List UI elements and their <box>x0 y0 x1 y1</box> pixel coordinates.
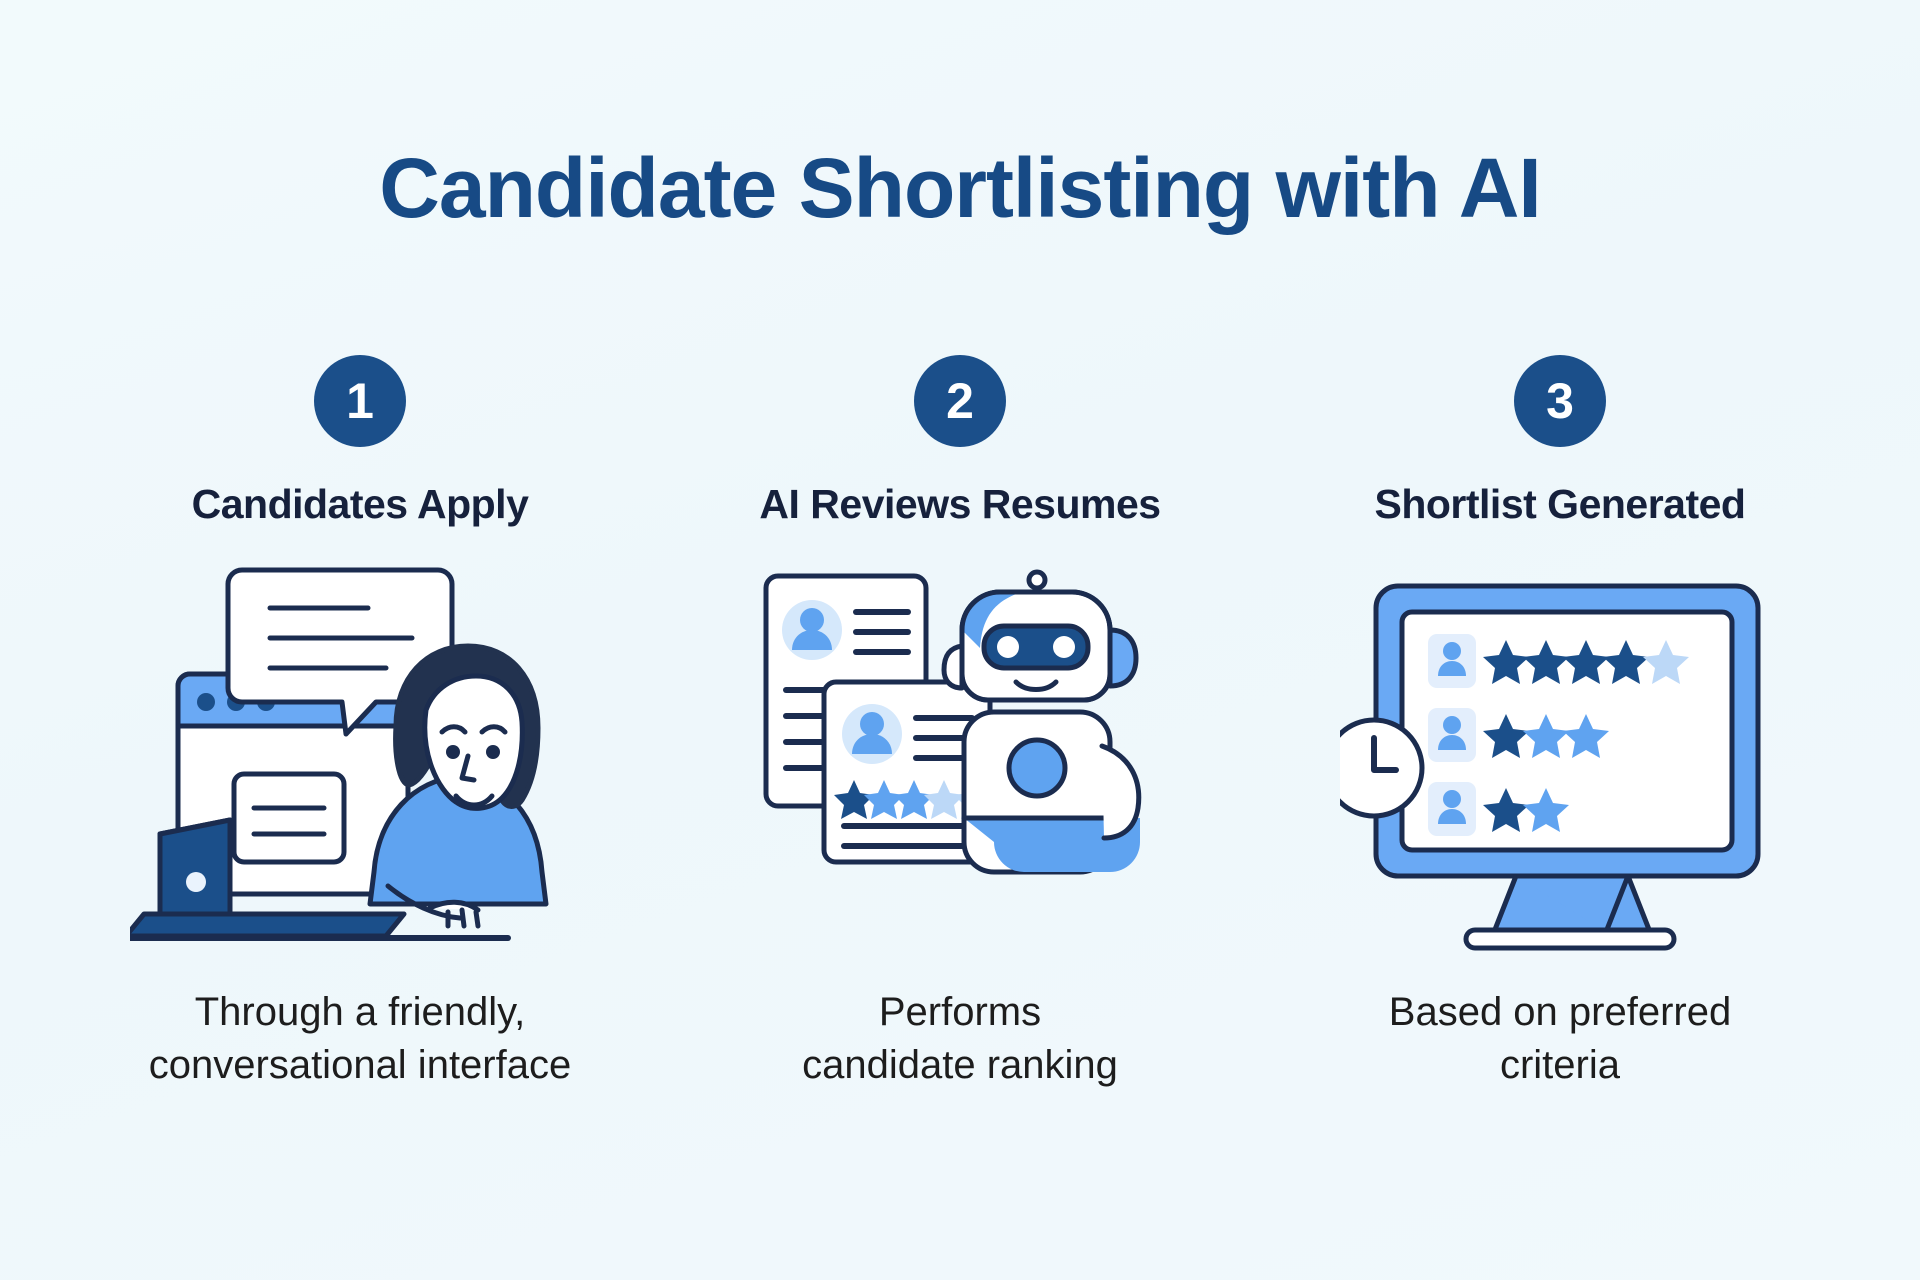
caption-line: Based on preferred criteria <box>1389 986 1731 1092</box>
step-column-2: 2 AI Reviews Resumes <box>660 355 1260 1092</box>
woman-at-laptop-svg <box>130 556 590 956</box>
step-heading-1: Candidates Apply <box>192 481 529 528</box>
caption-line: Performs candidate ranking <box>802 986 1118 1092</box>
step-caption-2: Performs candidate ranking <box>802 986 1118 1092</box>
step-caption-1: Through a friendly, conversational inter… <box>149 986 571 1092</box>
robot-ear <box>1110 630 1136 686</box>
step-badge-1: 1 <box>314 355 406 447</box>
illustration-shortlist-generated <box>1340 556 1780 956</box>
step-column-1: 1 Candidates Apply <box>60 355 660 1092</box>
infographic-canvas: Candidate Shortlisting with AI 1 Candida… <box>0 0 1920 1280</box>
step-caption-3: Based on preferred criteria <box>1389 986 1731 1092</box>
illustration-ai-reviews-resumes <box>750 556 1170 956</box>
robot-eye-icon <box>997 636 1019 658</box>
monitor-base <box>1466 930 1674 948</box>
step-heading-3: Shortlist Generated <box>1375 481 1746 528</box>
step-column-3: 3 Shortlist Generated <box>1260 355 1860 1092</box>
form-field-icon <box>234 774 344 862</box>
robot-resumes-svg <box>750 556 1170 956</box>
illustration-candidates-apply <box>130 556 590 956</box>
step-badge-2: 2 <box>914 355 1006 447</box>
window-dot-icon <box>197 693 215 711</box>
eye-icon <box>446 745 460 759</box>
step-badge-3: 3 <box>1514 355 1606 447</box>
laptop-logo-icon <box>186 872 206 892</box>
robot-eye-icon <box>1053 636 1075 658</box>
monitor-shortlist-svg <box>1340 556 1780 956</box>
steps-row: 1 Candidates Apply <box>0 355 1920 1092</box>
page-title: Candidate Shortlisting with AI <box>0 146 1920 230</box>
step-heading-2: AI Reviews Resumes <box>759 481 1160 528</box>
robot-chest-light <box>1009 740 1065 796</box>
eye-icon <box>486 745 500 759</box>
caption-line: Through a friendly, conversational inter… <box>149 986 571 1092</box>
